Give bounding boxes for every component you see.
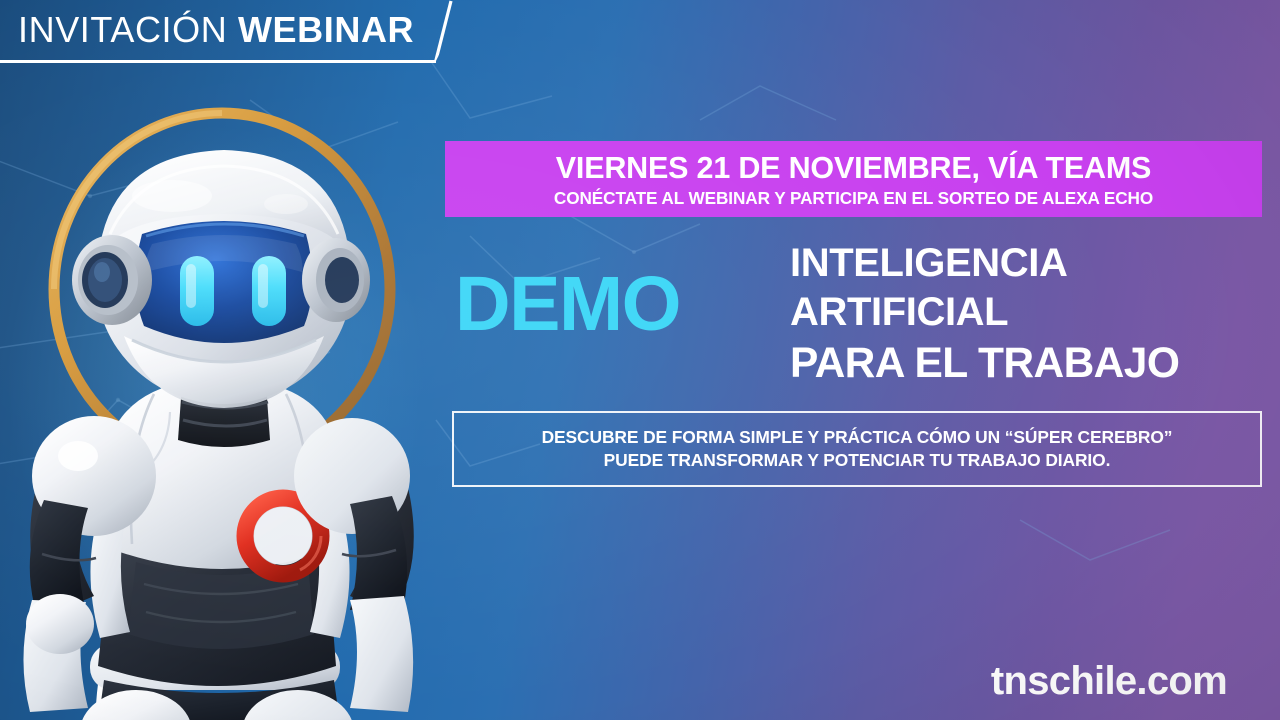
webinar-date-text: VIERNES 21 DE NOVIEMBRE, VÍA TEAMS [556, 151, 1151, 185]
header-label-bold: WEBINAR [238, 9, 414, 50]
webinar-raffle-text: CONÉCTATE AL WEBINAR Y PARTICIPA EN EL S… [554, 187, 1153, 209]
description-line-1: DESCUBRE DE FORMA SIMPLE Y PRÁCTICA CÓMO… [542, 426, 1173, 449]
headline-line-3: PARA EL TRABAJO [790, 338, 1179, 390]
headline-line-1: INTELIGENCIA [790, 239, 1179, 288]
header-label-light: INVITACIÓN [18, 9, 227, 50]
robot-visor [135, 221, 312, 343]
headline-line-2: ARTIFICIAL [790, 288, 1179, 337]
header-label: INVITACIÓN WEBINAR [18, 8, 414, 52]
robot-illustration [0, 84, 456, 720]
website-url[interactable]: tnschile.com [991, 658, 1227, 704]
description-line-2: PUEDE TRANSFORMAR Y POTENCIAR TU TRABAJO… [604, 449, 1111, 472]
date-banner: VIERNES 21 DE NOVIEMBRE, VÍA TEAMS CONÉC… [445, 141, 1262, 217]
demo-word: DEMO [455, 264, 680, 344]
robot-eye-right [252, 256, 286, 326]
description-box: DESCUBRE DE FORMA SIMPLE Y PRÁCTICA CÓMO… [452, 411, 1262, 487]
webinar-invitation-poster: INVITACIÓN WEBINAR VIERNES 21 DE NOVIEMB… [0, 0, 1280, 720]
robot-ear-right [302, 238, 370, 322]
robot-eye-left [180, 256, 214, 326]
robot-ear-left [72, 235, 152, 325]
main-headline: INTELIGENCIA ARTIFICIAL PARA EL TRABAJO [790, 239, 1179, 390]
header-underline [0, 60, 436, 63]
